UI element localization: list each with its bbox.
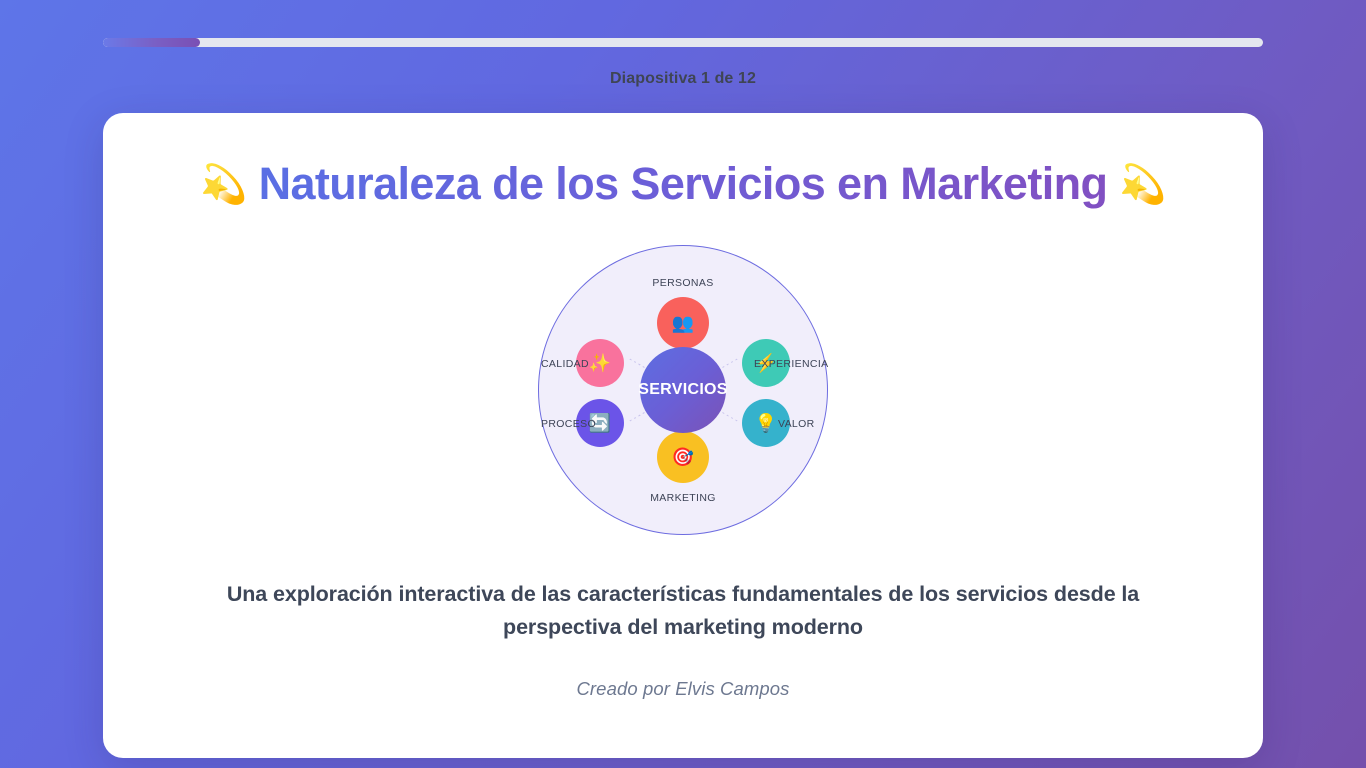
lightbulb-icon: 💡 bbox=[755, 414, 777, 432]
target-icon: 🎯 bbox=[672, 448, 694, 466]
slide-progress-fill bbox=[103, 38, 200, 47]
sparkles-icon: ✨ bbox=[589, 354, 611, 372]
slide-progress-bar[interactable] bbox=[103, 38, 1263, 47]
diagram-label-personas: PERSONAS bbox=[538, 277, 828, 289]
people-icon: 👥 bbox=[672, 314, 694, 332]
sparkle-icon-right: 💫 bbox=[1119, 164, 1166, 206]
slide-subtitle: Una exploración interactiva de las carac… bbox=[193, 578, 1173, 644]
services-diagram: 👥 ⚡ 💡 🎯 🔄 ✨ SERVICIOS PERSONAS EXPERIENC… bbox=[538, 245, 828, 535]
diagram-node-center[interactable]: SERVICIOS bbox=[640, 347, 726, 433]
diagram-label-marketing: MARKETING bbox=[538, 492, 828, 504]
page-title: 💫 Naturaleza de los Servicios en Marketi… bbox=[103, 158, 1263, 210]
diagram-label-proceso: PROCESO bbox=[541, 418, 596, 430]
page-title-text: Naturaleza de los Servicios en Marketing bbox=[259, 158, 1108, 209]
slide-counter: Diapositiva 1 de 12 bbox=[0, 70, 1366, 88]
sparkle-icon-left: 💫 bbox=[200, 164, 247, 206]
diagram-label-experiencia: EXPERIENCIA bbox=[754, 358, 828, 370]
diagram-label-valor: VALOR bbox=[778, 418, 815, 430]
diagram-node-marketing[interactable]: 🎯 bbox=[657, 431, 709, 483]
diagram-label-calidad: CALIDAD bbox=[541, 358, 589, 370]
diagram-node-personas[interactable]: 👥 bbox=[657, 297, 709, 349]
diagram-center-label: SERVICIOS bbox=[638, 382, 728, 398]
slide-card: 💫 Naturaleza de los Servicios en Marketi… bbox=[103, 113, 1263, 758]
slide-author: Creado por Elvis Campos bbox=[103, 678, 1263, 700]
